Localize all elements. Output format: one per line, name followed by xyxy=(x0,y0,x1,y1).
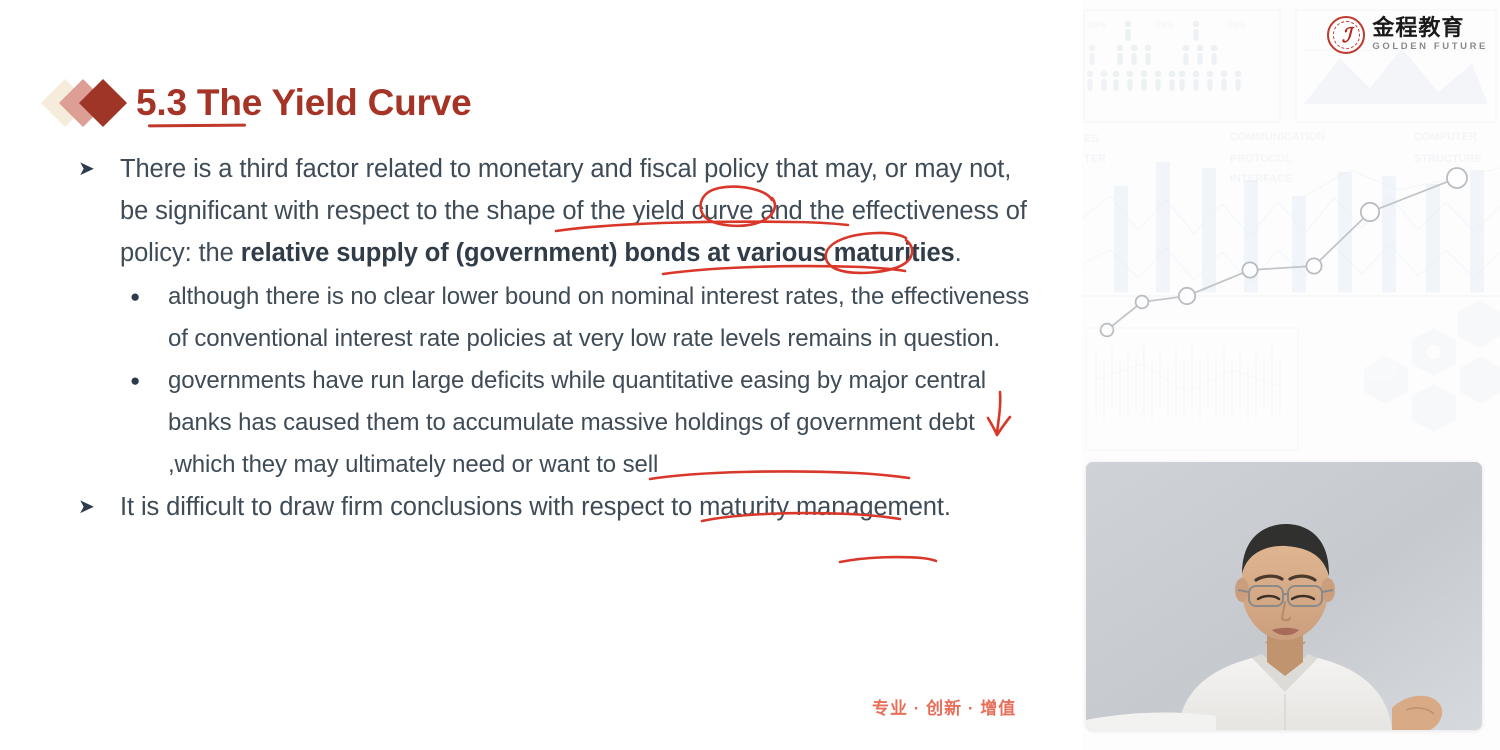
bullet-segment-bold: relative supply of (government) bonds at… xyxy=(241,239,955,267)
slide-canvas: 5.3 The Yield Curve ➤ There is a third f… xyxy=(0,0,1082,750)
page-title: 5.3 The Yield Curve xyxy=(136,82,472,124)
slide-title-row: 5.3 The Yield Curve xyxy=(46,78,472,128)
bullet-item-4: ➤ It is difficult to draw firm conclusio… xyxy=(74,486,1034,528)
brand-name-cn: 金程教育 xyxy=(1372,18,1488,40)
instructor-webcam-image xyxy=(1086,462,1482,730)
bullet-item-3: ● governments have run large deficits wh… xyxy=(120,360,1034,486)
svg-text:40%: 40% xyxy=(1088,20,1106,30)
dot-bullet-icon: ● xyxy=(120,360,168,486)
bullet-text-3: governments have run large deficits whil… xyxy=(168,360,1034,486)
brand-wordmark: 金程教育 GOLDEN FUTURE xyxy=(1372,18,1488,52)
bullet-item-2: ● although there is no clear lower bound… xyxy=(120,276,1034,360)
underline-to-sell-ink xyxy=(840,557,936,562)
svg-text:STRUCTURE: STRUCTURE xyxy=(1414,153,1482,165)
bullet-text-2: although there is no clear lower bound o… xyxy=(168,276,1034,360)
title-diamond-decoration xyxy=(46,78,132,128)
svg-text:75%: 75% xyxy=(1156,20,1174,30)
bullet-text-4: It is difficult to draw firm conclusions… xyxy=(120,486,1034,528)
arrow-bullet-icon: ➤ xyxy=(74,486,120,528)
bullet-item-1: ➤ There is a third factor related to mon… xyxy=(74,148,1034,274)
svg-text:COMPUTER: COMPUTER xyxy=(1414,131,1477,143)
svg-text:INTERFACE: INTERFACE xyxy=(1230,173,1292,185)
seal-emblem-icon: ℐ xyxy=(1327,16,1365,54)
slide-screenshot: 5.3 The Yield Curve ➤ There is a third f… xyxy=(0,0,1500,750)
seal-letter: ℐ xyxy=(1329,18,1363,52)
arrow-bullet-icon: ➤ xyxy=(74,148,120,274)
svg-text:TER: TER xyxy=(1084,153,1106,165)
background-infographic-art: 40%75%85% ES TER COMMUNICATION PROTOCOL … xyxy=(1082,0,1500,460)
svg-text:85%: 85% xyxy=(1228,20,1246,30)
brand-logo: ℐ 金程教育 GOLDEN FUTURE xyxy=(1327,16,1488,54)
footer-slogan: 专业 · 创新 · 增值 xyxy=(872,694,1016,719)
bullet-text-1: There is a third factor related to monet… xyxy=(120,148,1034,274)
brand-name-en: GOLDEN FUTURE xyxy=(1372,42,1488,52)
instructor-video-panel[interactable] xyxy=(1086,462,1482,730)
bullet-segment-period: . xyxy=(955,239,962,267)
slide-body: ➤ There is a third factor related to mon… xyxy=(74,148,1034,530)
right-panel: 40%75%85% ES TER COMMUNICATION PROTOCOL … xyxy=(1082,0,1500,750)
svg-text:PROTOCOL: PROTOCOL xyxy=(1230,153,1292,165)
dot-bullet-icon: ● xyxy=(120,276,168,360)
svg-text:ES: ES xyxy=(1084,133,1099,145)
svg-text:COMMUNICATION: COMMUNICATION xyxy=(1230,131,1325,143)
sub-bullet-group: ● although there is no clear lower bound… xyxy=(120,276,1034,486)
